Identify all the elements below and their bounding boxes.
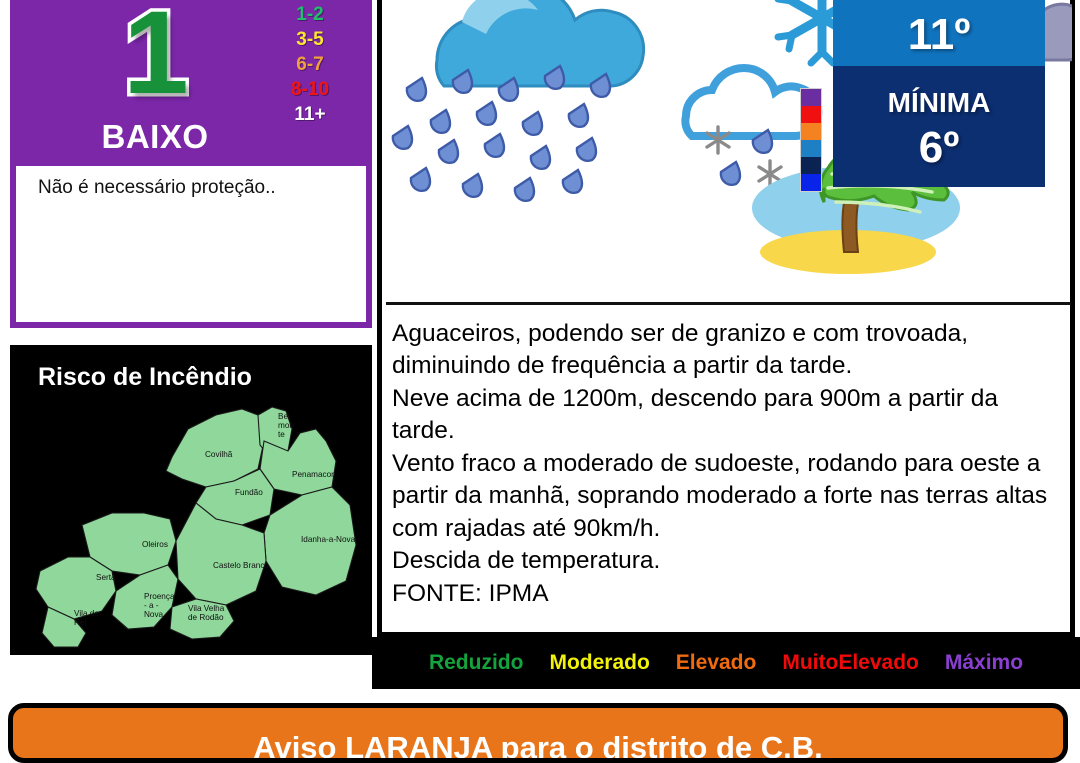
forecast-line: Descida de temperatura. (392, 545, 1052, 577)
forecast-line: Aguaceiros, podendo ser de granizo e com… (392, 318, 1052, 383)
uv-index-level-label: BAIXO (10, 118, 300, 156)
forecast-line: Neve acima de 1200m, descendo para 900m … (392, 383, 1052, 448)
legend-item-moderado: Moderado (549, 651, 649, 675)
map-district-label: Penamacor (292, 470, 334, 479)
forecast-source: FONTE: IPMA (392, 578, 1052, 610)
intensity-color-bar (800, 88, 822, 192)
temperature-min-box: MÍNIMA 6º (833, 66, 1045, 187)
uv-advice-text: Não é necessário proteção.. (16, 166, 366, 200)
map-district-label: Covilhã (205, 450, 233, 459)
temperature-max-box: 11º (833, 0, 1045, 66)
sleet-cloud-icon (685, 68, 818, 187)
uv-scale-step: 6-7 (270, 52, 350, 77)
weather-alert-banner-text: Aviso LARANJA para o distrito de C.B. (13, 730, 1063, 763)
map-district-label: Idanha-a-Nova (301, 535, 356, 544)
forecast-line: Vento fraco a moderado de sudoeste, roda… (392, 448, 1052, 545)
uv-index-value: 1 (10, 0, 300, 112)
color-bar-segment (801, 157, 821, 174)
uv-index-panel: 1 BAIXO 1-2 3-5 6-7 8-10 11+ (10, 0, 372, 160)
forecast-description: Aguaceiros, podendo ser de granizo e com… (392, 318, 1052, 610)
uv-scale-step: 1-2 (270, 2, 350, 27)
uv-scale-step: 11+ (270, 102, 350, 127)
map-district-label: Vila Velhade Rodão (188, 604, 225, 622)
map-district-label: Vila deRei (74, 609, 99, 627)
fire-risk-legend-strip: Reduzido Moderado Elevado MuitoElevado M… (372, 637, 1080, 689)
fire-risk-district-map: BelmonteCovilhãPenamacorFundãoOleirosIda… (20, 395, 372, 653)
weather-alert-banner: Aviso LARANJA para o distrito de C.B. (8, 703, 1068, 763)
temperature-max-value: 11º (833, 10, 1045, 60)
map-district-label: Fundão (235, 488, 263, 497)
temperature-panel: 11º MÍNIMA 6º (833, 0, 1045, 187)
legend-item-elevado: Elevado (676, 651, 757, 675)
map-district-label: Castelo Branco (213, 561, 269, 570)
uv-advice-box: Não é necessário proteção.. (10, 160, 372, 328)
color-bar-segment (801, 106, 821, 123)
legend-item-muitoelevado: MuitoElevado (782, 651, 919, 675)
color-bar-segment (801, 89, 821, 106)
panel-divider (386, 302, 1071, 305)
color-bar-segment (801, 174, 821, 191)
temperature-min-value: 6º (833, 123, 1045, 173)
uv-scale-step: 8-10 (270, 77, 350, 102)
color-bar-segment (801, 123, 821, 140)
rain-cloud-icon (393, 0, 644, 201)
fire-risk-panel: Risco de Incêndio BelmonteCovilhãPenamac… (10, 345, 372, 655)
map-district-label: Oleiros (142, 540, 168, 549)
uv-scale-list: 1-2 3-5 6-7 8-10 11+ (270, 2, 350, 127)
fire-risk-legend: Reduzido Moderado Elevado MuitoElevado M… (372, 637, 1080, 689)
temperature-min-label: MÍNIMA (833, 87, 1045, 119)
fire-risk-title: Risco de Incêndio (38, 363, 252, 392)
uv-scale-step: 3-5 (270, 27, 350, 52)
legend-item-maximo: Máximo (945, 651, 1023, 675)
legend-item-reduzido: Reduzido (429, 651, 524, 675)
color-bar-segment (801, 140, 821, 157)
map-district-label: Sertã (96, 573, 116, 582)
